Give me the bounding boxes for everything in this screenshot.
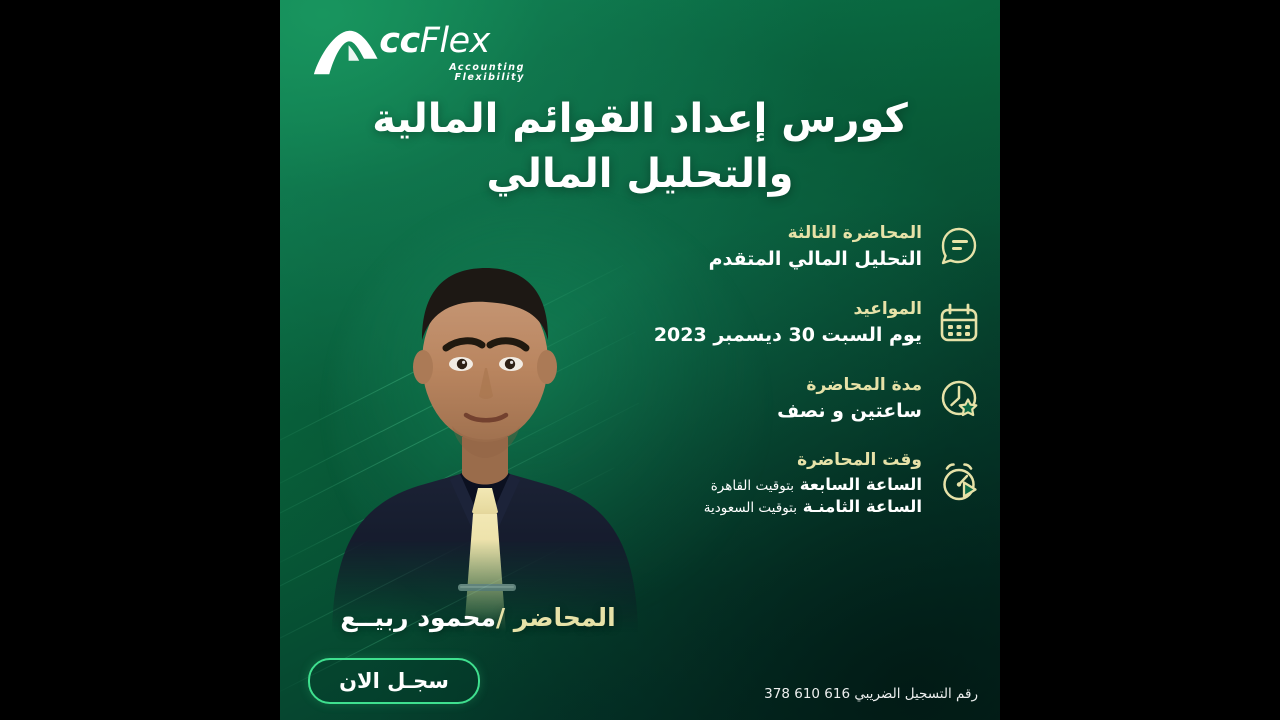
info-row-duration: مدة المحاضرة ساعتين و نصف [637, 374, 982, 424]
time-cairo-hour: الساعة السابعة [800, 475, 922, 494]
clock-star-icon [936, 375, 982, 421]
alarm-play-icon [936, 460, 982, 506]
title-line-1: كورس إعداد القوائم المالية [372, 96, 908, 142]
letterbox-bar-left [0, 0, 280, 720]
logo-tagline: Accounting Flexibility [379, 63, 525, 82]
video-frame: ccFlex Accounting Flexibility كورس إعداد… [0, 0, 1280, 720]
register-now-label: سجـل الان [339, 669, 449, 693]
info-row-dates: المواعيد يوم السبت 30 ديسمبر 2023 [637, 298, 982, 348]
info-text-duration: مدة المحاضرة ساعتين و نصف [637, 374, 922, 424]
logo-word-flex: Flex [420, 21, 490, 61]
course-poster: ccFlex Accounting Flexibility كورس إعداد… [280, 0, 1000, 720]
info-label-time: وقت المحاضرة [637, 449, 922, 471]
time-cairo-zone: بتوقيت القاهرة [711, 478, 794, 494]
tax-digits: 378 610 616 [764, 686, 850, 702]
speaker-name-block: المحاضر /محمود ربيــع [308, 603, 648, 632]
info-value-lecture: التحليل المالي المتقدم [637, 247, 922, 272]
info-text-time: وقت المحاضرة الساعة السابعة بتوقيت القاه… [637, 449, 922, 517]
info-value-time-ksa: الساعة الثامنـة بتوقيت السعودية [637, 496, 922, 518]
info-label-lecture: المحاضرة الثالثة [637, 222, 922, 244]
logo-wordmark: ccFlex [379, 24, 525, 59]
time-ksa-hour: الساعة الثامنـة [803, 497, 922, 516]
info-value-duration: ساعتين و نصف [637, 399, 922, 424]
accflex-a-swoosh-icon [310, 25, 385, 81]
letterbox-bar-right [1000, 0, 1280, 720]
info-text-dates: المواعيد يوم السبت 30 ديسمبر 2023 [637, 298, 922, 348]
info-text-lecture: المحاضرة الثالثة التحليل المالي المتقدم [637, 222, 922, 272]
info-row-lecture: المحاضرة الثالثة التحليل المالي المتقدم [637, 222, 982, 272]
speaker-name: محمود ربيــع [340, 603, 496, 632]
poster-title: كورس إعداد القوائم المالية والتحليل الما… [320, 92, 960, 202]
register-now-button[interactable]: سجـل الان [308, 658, 480, 704]
speaker-portrait [310, 212, 660, 632]
logo-word-cc: cc [379, 21, 420, 61]
course-info-list: المحاضرة الثالثة التحليل المالي المتقدم [637, 222, 982, 518]
info-value-time-cairo: الساعة السابعة بتوقيت القاهرة [637, 474, 922, 496]
speaker-label: المحاضر / [496, 603, 616, 632]
info-value-dates: يوم السبت 30 ديسمبر 2023 [637, 323, 922, 348]
tax-label: رقم التسجيل الضريبي [854, 686, 978, 702]
title-line-2: والتحليل المالي [320, 147, 960, 202]
info-label-duration: مدة المحاضرة [637, 374, 922, 396]
tax-registration-number: رقم التسجيل الضريبي 378 610 616 [764, 686, 978, 702]
calendar-icon [936, 300, 982, 346]
chat-bubble-icon [936, 224, 982, 270]
time-ksa-zone: بتوقيت السعودية [704, 500, 797, 516]
info-row-time: وقت المحاضرة الساعة السابعة بتوقيت القاه… [637, 449, 982, 517]
info-label-dates: المواعيد [637, 298, 922, 320]
accflex-logo: ccFlex Accounting Flexibility [310, 22, 525, 84]
